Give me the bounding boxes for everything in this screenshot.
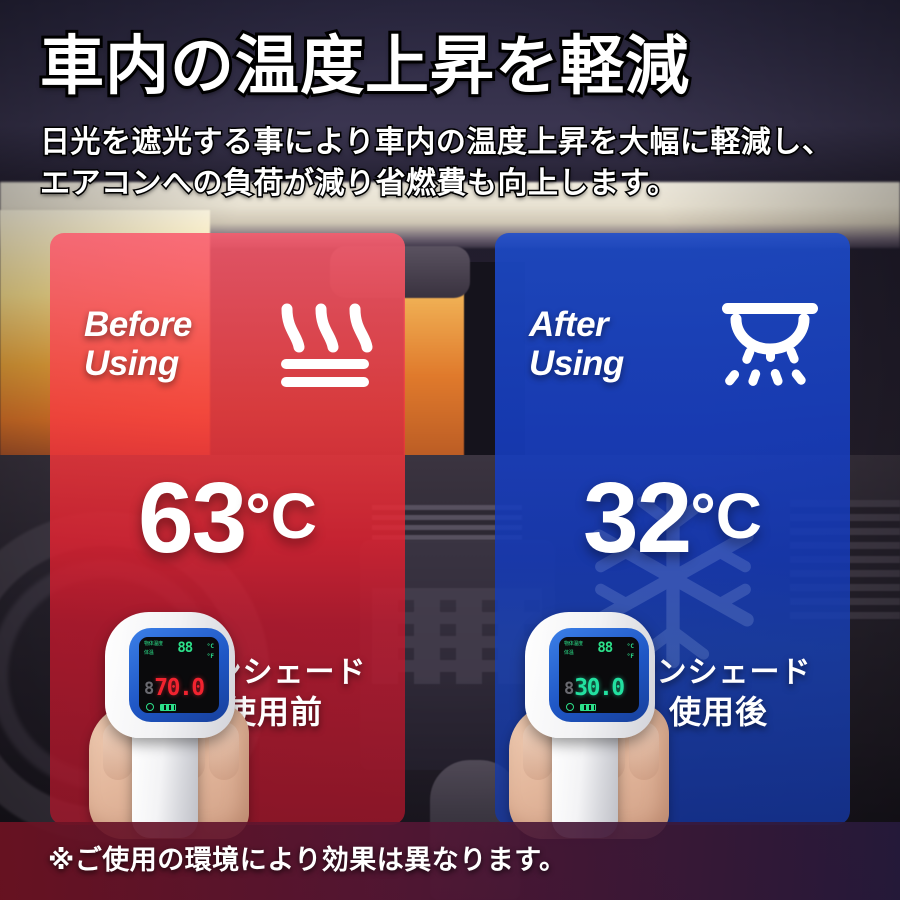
display-body-temp-label-right: 体温 [564,651,583,656]
thermometer-head-right: 物体温度 体温 88 °C °F 8 30.0 [525,612,655,738]
before-label-line-1: Before [84,305,192,344]
before-temperature: 63°C [50,468,405,568]
header: 車内の温度上昇を軽減 日光を遮光する事により車内の温度上昇を大幅に軽減し、 エア… [0,0,900,200]
display-unit-c-left: °C [207,642,214,652]
before-label-line-2: Using [84,344,192,383]
display-unit-c-right: °C [627,642,634,652]
heat-waves-icon [271,295,379,391]
display-mode-icon-right [566,703,574,711]
footer-note: ※ご使用の環境により効果は異なります。 [48,838,567,877]
battery-icon-left [160,704,176,711]
display-mode-icon-left [146,703,154,711]
after-label-line-1: After [529,305,624,344]
display-unit-f-right: °F [627,652,634,662]
thermometer-device-left: 物体温度 体温 88 °C °F 8 70.0 [95,612,245,837]
thermometer-device-right: 物体温度 体温 88 °C °F 8 30.0 [515,612,665,837]
subtitle-line-1: 日光を遮光する事により車内の温度上昇を大幅に軽減し、 [40,122,870,163]
after-temp-value: 32 [583,462,690,574]
thermometer-head-left: 物体温度 体温 88 °C °F 8 70.0 [105,612,235,738]
display-object-temp-label-right: 物体温度 [564,642,583,647]
subtitle-line-2: エアコンへの負荷が減り省燃費も向上します。 [40,163,870,204]
before-label: Before Using [84,305,192,383]
display-ghost-digit-right: 8 [564,679,573,699]
after-temp-unit: °C [690,480,762,552]
display-unit-f-left: °F [207,652,214,662]
display-mode-value-right: 88 [597,641,612,655]
page-title: 車内の温度上昇を軽減 [40,34,690,98]
page-subtitle: 日光を遮光する事により車内の温度上昇を大幅に軽減し、 エアコンへの負荷が減り省燃… [40,122,870,205]
display-body-temp-label-left: 体温 [144,651,163,656]
thermometer-display-left: 物体温度 体温 88 °C °F 8 70.0 [139,637,219,713]
display-reading-left: 70.0 [154,678,203,699]
before-temp-unit: °C [245,480,317,552]
display-reading-right: 30.0 [574,678,623,699]
promo-banner: 車内の温度上昇を軽減 日光を遮光する事により車内の温度上昇を大幅に軽減し、 エア… [0,0,900,900]
after-label: After Using [529,305,624,383]
before-temp-value: 63 [138,462,245,574]
display-ghost-digit-left: 8 [144,679,153,699]
air-conditioner-icon [716,295,824,391]
display-mode-value-left: 88 [177,641,192,655]
display-object-temp-label-left: 物体温度 [144,642,163,647]
battery-icon-right [580,704,596,711]
after-label-line-2: Using [529,344,624,383]
after-temperature: 32°C [495,468,850,568]
thermometer-display-right: 物体温度 体温 88 °C °F 8 30.0 [559,637,639,713]
